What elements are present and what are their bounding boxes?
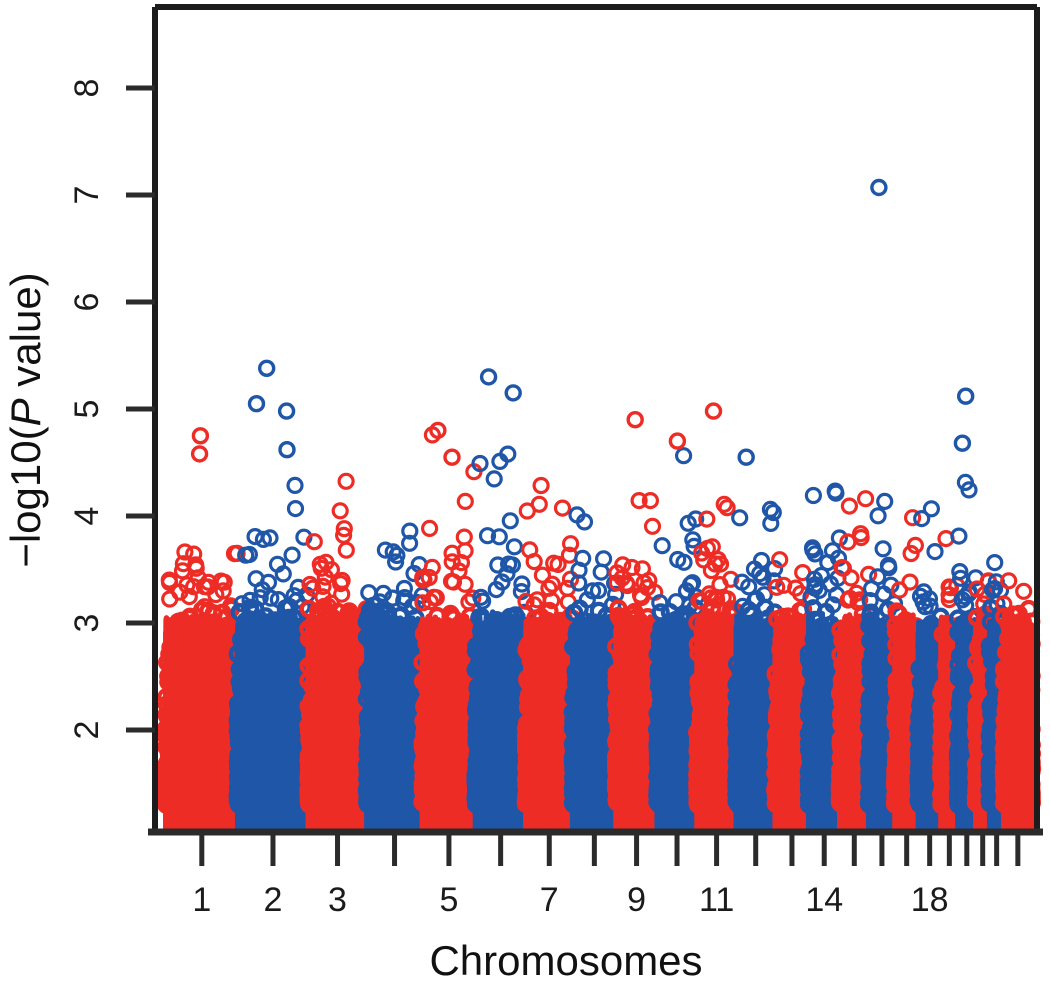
plot-canvas: 2345678 123579111418 −log10(P value) Chr… [0,0,1050,983]
manhattan-plot-figure: 2345678 123579111418 −log10(P value) Chr… [0,0,1050,983]
